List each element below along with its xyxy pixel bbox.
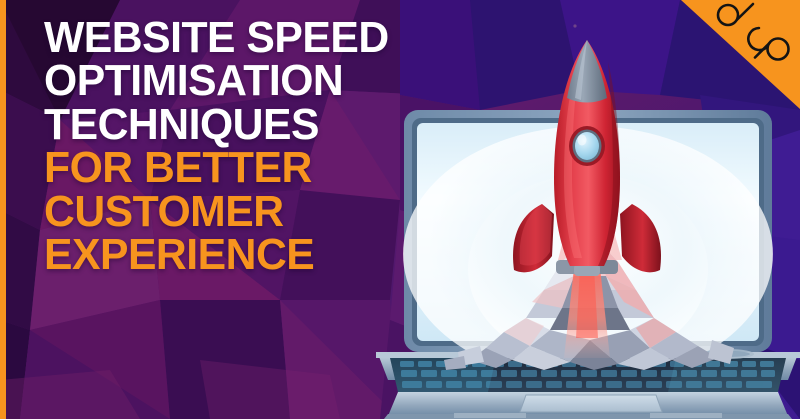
headline: WEBSITE SPEED OPTIMISATION TECHNIQUES FO…: [44, 18, 444, 279]
headline-line-4: FOR BETTER: [44, 148, 432, 188]
promo-banner: WEBSITE SPEED OPTIMISATION TECHNIQUES FO…: [0, 0, 800, 419]
left-accent-stripe: [0, 0, 6, 419]
headline-line-5: CUSTOMER: [44, 192, 432, 232]
headline-line-3: TECHNIQUES: [44, 105, 432, 145]
headline-line-6: EXPERIENCE: [44, 235, 432, 275]
headline-line-2: OPTIMISATION: [44, 61, 432, 101]
dcp-logo[interactable]: [712, 2, 796, 68]
headline-line-1: WEBSITE SPEED: [44, 18, 432, 58]
